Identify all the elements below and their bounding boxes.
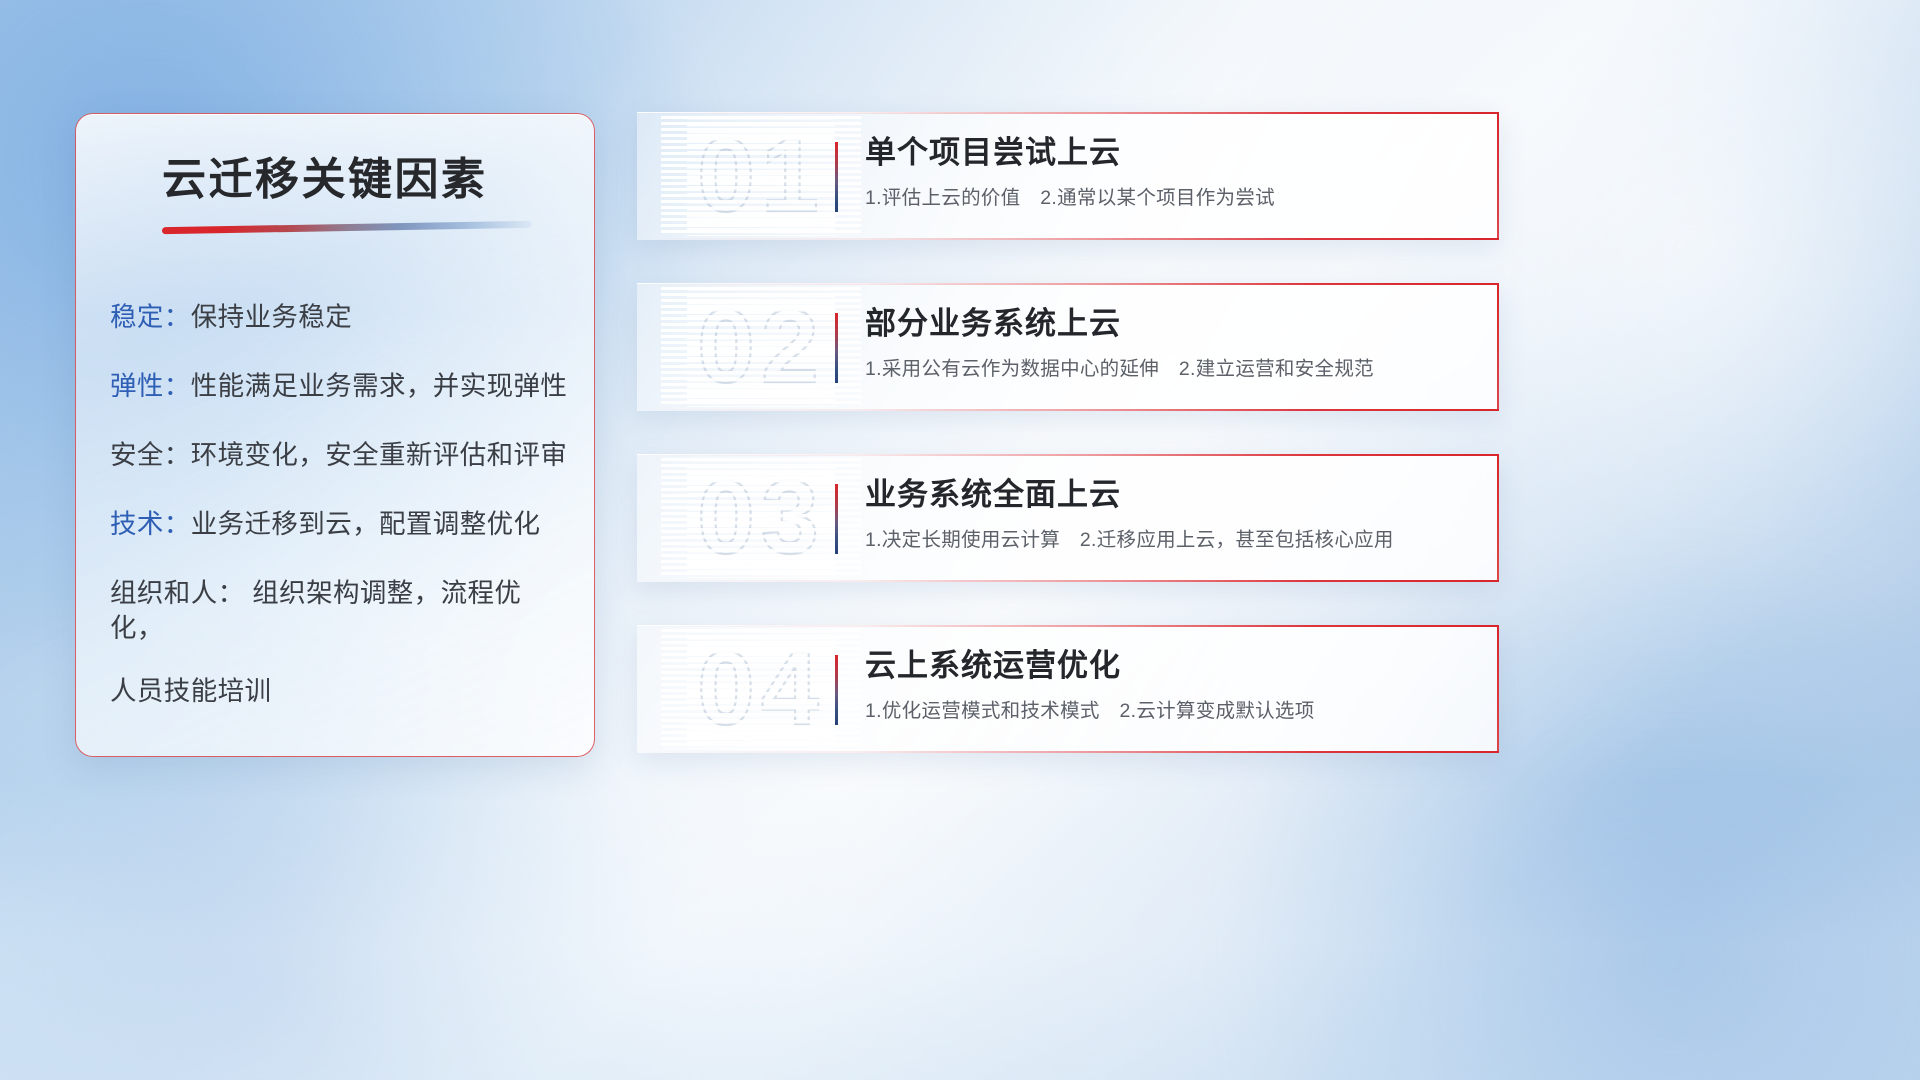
stage-number-watermark: 03 bbox=[661, 458, 861, 578]
card-accent-bar bbox=[835, 655, 838, 725]
card-right-border bbox=[1497, 283, 1499, 411]
stage-description: 1.决定长期使用云计算 2.迁移应用上云，甚至包括核心应用 bbox=[865, 528, 1475, 553]
list-item: 技术： 业务迁移到云，配置调整优化 bbox=[110, 507, 568, 542]
stage-card[interactable]: 04 云上系统运营优化 1.优化运营模式和技术模式 2.云计算变成默认选项 bbox=[637, 625, 1499, 753]
list-item-key: 组织和人： bbox=[110, 578, 245, 608]
stage-title: 部分业务系统上云 bbox=[865, 305, 1475, 342]
card-bottom-border bbox=[637, 409, 1499, 411]
key-factors-panel: 云迁移关键因素 稳定： 保持业务稳定 弹性： 性能满足业务需求，并实现弹性 安全… bbox=[75, 113, 595, 757]
card-accent-bar bbox=[835, 313, 838, 383]
card-accent-bar bbox=[835, 142, 838, 212]
list-item-value: 环境变化，安全重新评估和评审 bbox=[191, 438, 568, 473]
list-item-value-continued: 人员技能培训 bbox=[110, 674, 568, 709]
list-item: 稳定： 保持业务稳定 bbox=[110, 300, 568, 335]
panel-title: 云迁移关键因素 bbox=[162, 154, 562, 206]
list-item-value: 保持业务稳定 bbox=[191, 300, 352, 335]
stage-number-text: 03 bbox=[697, 460, 825, 576]
list-item-key: 弹性： bbox=[110, 369, 191, 404]
card-top-border bbox=[637, 454, 1499, 456]
stage-number-text: 04 bbox=[697, 631, 825, 747]
stage-number-text: 01 bbox=[697, 118, 825, 234]
card-bottom-border bbox=[637, 751, 1499, 753]
card-top-border bbox=[637, 283, 1499, 285]
card-right-border bbox=[1497, 112, 1499, 240]
list-item-value: 性能满足业务需求，并实现弹性 bbox=[191, 369, 568, 404]
list-item-key: 技术： bbox=[110, 507, 191, 542]
stage-description: 1.评估上云的价值 2.通常以某个项目作为尝试 bbox=[865, 186, 1475, 211]
stage-description: 1.优化运营模式和技术模式 2.云计算变成默认选项 bbox=[865, 699, 1475, 724]
panel-title-underline bbox=[162, 221, 532, 234]
card-bottom-border bbox=[637, 580, 1499, 582]
key-factors-list: 稳定： 保持业务稳定 弹性： 性能满足业务需求，并实现弹性 安全： 环境变化，安… bbox=[110, 300, 568, 709]
list-item-value: 业务迁移到云，配置调整优化 bbox=[191, 507, 541, 542]
stage-number-watermark: 01 bbox=[661, 116, 861, 236]
stage-title: 云上系统运营优化 bbox=[865, 647, 1475, 684]
stage-number-text: 02 bbox=[697, 289, 825, 405]
stage-card-list: 01 单个项目尝试上云 1.评估上云的价值 2.通常以某个项目作为尝试 02 部… bbox=[637, 112, 1499, 753]
stripe-overlay bbox=[687, 287, 835, 407]
panel-gloss bbox=[76, 114, 594, 314]
slide-canvas: 云迁移关键因素 稳定： 保持业务稳定 弹性： 性能满足业务需求，并实现弹性 安全… bbox=[0, 0, 1920, 1080]
stripe-overlay bbox=[687, 629, 835, 749]
stripe-overlay bbox=[687, 458, 835, 578]
list-item: 组织和人： 组织架构调整，流程优化， 人员技能培训 bbox=[110, 576, 568, 709]
list-item-key: 稳定： bbox=[110, 300, 191, 335]
stage-number-watermark: 02 bbox=[661, 287, 861, 407]
card-top-border bbox=[637, 625, 1499, 627]
stage-description: 1.采用公有云作为数据中心的延伸 2.建立运营和安全规范 bbox=[865, 357, 1475, 382]
card-top-border bbox=[637, 112, 1499, 114]
background-bottom-haze bbox=[0, 780, 1920, 1080]
stage-title: 单个项目尝试上云 bbox=[865, 134, 1475, 171]
card-right-border bbox=[1497, 454, 1499, 582]
stripe-overlay bbox=[687, 116, 835, 236]
stage-card[interactable]: 03 业务系统全面上云 1.决定长期使用云计算 2.迁移应用上云，甚至包括核心应… bbox=[637, 454, 1499, 582]
card-bottom-border bbox=[637, 238, 1499, 240]
list-item: 弹性： 性能满足业务需求，并实现弹性 bbox=[110, 369, 568, 404]
card-right-border bbox=[1497, 625, 1499, 753]
stage-card[interactable]: 02 部分业务系统上云 1.采用公有云作为数据中心的延伸 2.建立运营和安全规范 bbox=[637, 283, 1499, 411]
stage-number-watermark: 04 bbox=[661, 629, 861, 749]
card-accent-bar bbox=[835, 484, 838, 554]
list-item-key: 安全： bbox=[110, 438, 191, 473]
list-item: 安全： 环境变化，安全重新评估和评审 bbox=[110, 438, 568, 473]
stage-card[interactable]: 01 单个项目尝试上云 1.评估上云的价值 2.通常以某个项目作为尝试 bbox=[637, 112, 1499, 240]
stage-title: 业务系统全面上云 bbox=[865, 476, 1475, 513]
